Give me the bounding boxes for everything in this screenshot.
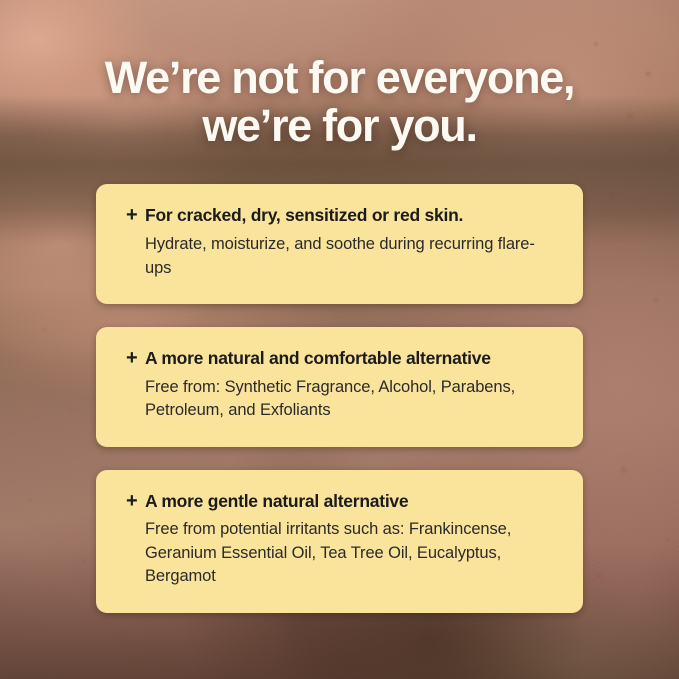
benefit-card[interactable]: + A more natural and comfortable alterna…	[96, 327, 583, 447]
benefit-card-title: A more gentle natural alternative	[145, 490, 408, 513]
plus-icon: +	[126, 205, 145, 225]
benefit-card-list: + For cracked, dry, sensitized or red sk…	[96, 184, 583, 612]
headline-line-1: We’re not for everyone,	[105, 52, 574, 103]
benefit-card-title: A more natural and comfortable alternati…	[145, 347, 491, 370]
benefit-card-body: Hydrate, moisturize, and soothe during r…	[126, 233, 553, 280]
benefit-card[interactable]: + A more gentle natural alternative Free…	[96, 470, 583, 613]
benefit-card-title: For cracked, dry, sensitized or red skin…	[145, 204, 463, 227]
plus-icon: +	[126, 348, 145, 368]
benefit-card-title-row: + For cracked, dry, sensitized or red sk…	[126, 204, 553, 227]
promo-image: We’re not for everyone, we’re for you. +…	[0, 0, 679, 679]
plus-icon: +	[126, 491, 145, 511]
benefit-card[interactable]: + For cracked, dry, sensitized or red sk…	[96, 184, 583, 304]
headline-line-2: we’re for you.	[202, 100, 476, 151]
page-title: We’re not for everyone, we’re for you.	[60, 54, 620, 149]
benefit-card-title-row: + A more gentle natural alternative	[126, 490, 553, 513]
benefit-card-body: Free from potential irritants such as: F…	[126, 518, 553, 588]
benefit-card-title-row: + A more natural and comfortable alterna…	[126, 347, 553, 370]
content-overlay: We’re not for everyone, we’re for you. +…	[0, 0, 679, 679]
benefit-card-body: Free from: Synthetic Fragrance, Alcohol,…	[126, 376, 553, 423]
